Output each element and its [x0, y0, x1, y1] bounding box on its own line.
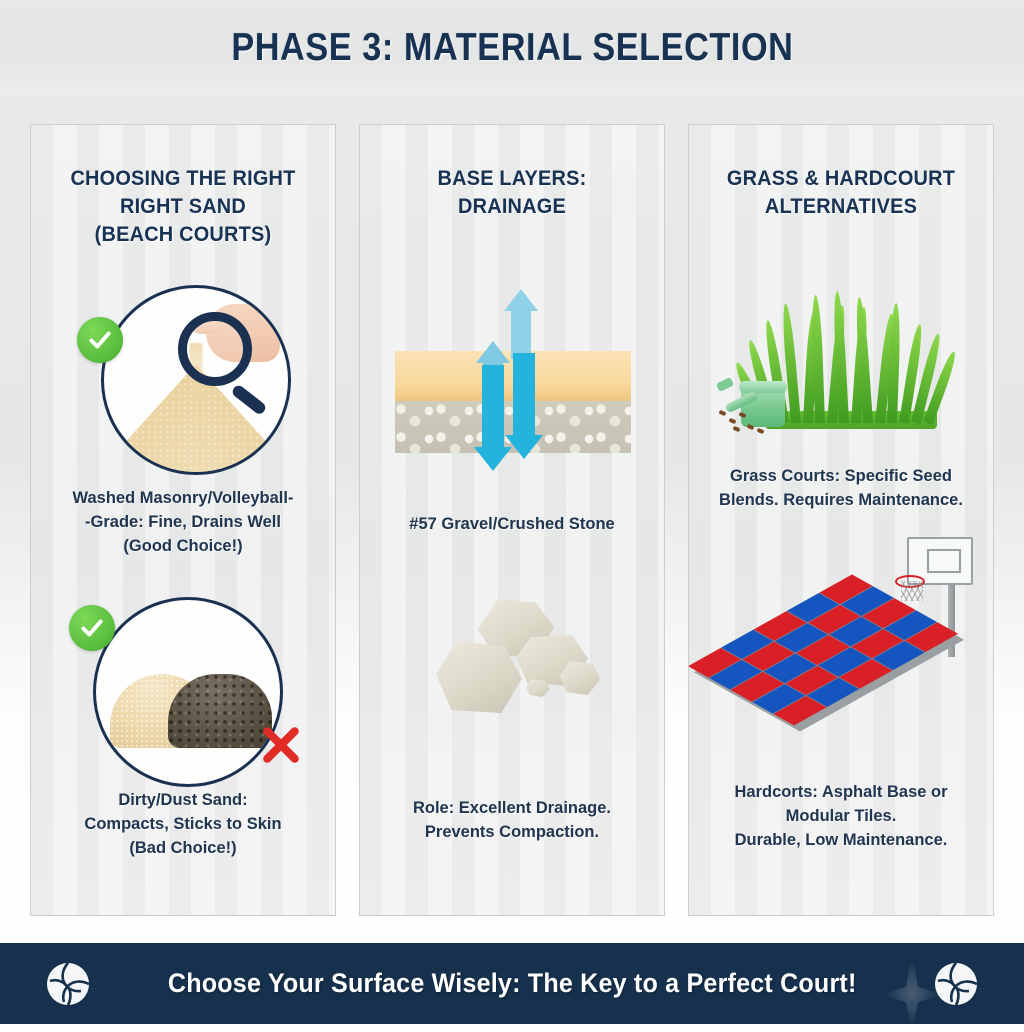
title-band: PHASE 3: MATERIAL SELECTION [0, 0, 1024, 96]
panel-base-layers: BASE LAYERS: DRAINAGE [359, 124, 665, 916]
caption-line: Modular Tiles. [689, 805, 993, 829]
infographic-root: PHASE 3: MATERIAL SELECTION CHOOSING THE… [0, 0, 1024, 1024]
caption-line: Hardcorts: Asphalt Base or [689, 781, 993, 805]
water-vapor-arrow-head [476, 341, 510, 363]
caption-good-sand: Washed Masonry/Volleyball- -Grade: Fine,… [31, 487, 335, 559]
magnifier-lens [178, 312, 252, 386]
panel-heading-line: CHOOSING THE RIGHT [39, 165, 328, 193]
figure-modular-court [689, 537, 993, 737]
footer-tagline: Choose Your Surface Wisely: The Key to a… [168, 968, 857, 999]
seed [718, 410, 726, 417]
figure-grass [689, 283, 993, 433]
caption-bad-sand: Dirty/Dust Sand: Compacts, Sticks to Ski… [31, 789, 335, 861]
sand-photo-circle [101, 285, 291, 475]
figure-sand-magnifier [31, 281, 335, 477]
crushed-stone-cluster [422, 595, 602, 715]
volleyball-icon [932, 960, 980, 1008]
dirty-sand-mound [168, 674, 272, 748]
water-infiltration-arrow-left [482, 365, 504, 449]
caption-line: (Bad Choice!) [31, 837, 335, 861]
volleyball-icon [44, 960, 92, 1008]
figure-drainage-cross-section [360, 303, 664, 478]
panel-heading: BASE LAYERS: DRAINAGE [368, 125, 657, 221]
water-evaporation-arrow-head [504, 289, 538, 311]
caption-hardcourts: Hardcorts: Asphalt Base or Modular Tiles… [689, 781, 993, 853]
panel-heading: GRASS & HARDCOURT ALTERNATIVES [697, 125, 986, 221]
panel-heading-line: BASE LAYERS: [368, 165, 657, 193]
figure-clean-vs-dirty-sand [31, 591, 335, 791]
seed [756, 428, 764, 435]
modular-tile-court [707, 537, 975, 737]
watering-can-top [739, 381, 787, 393]
caption-line: Durable, Low Maintenance. [689, 829, 993, 853]
caption-line: Blends. Requires Maintenance. [689, 489, 993, 513]
water-evaporation-arrow [511, 307, 531, 359]
caption-line: Dirty/Dust Sand: [31, 789, 335, 813]
panel-heading-line: (BEACH COURTS) [39, 221, 328, 249]
caption-line: Prevents Compaction. [360, 821, 664, 845]
grass-illustration [713, 283, 969, 433]
caption-line: Washed Masonry/Volleyball- [31, 487, 335, 511]
caption-line: Role: Excellent Drainage. [360, 797, 664, 821]
panel-choosing-sand: CHOOSING THE RIGHT RIGHT SAND (BEACH COU… [30, 124, 336, 916]
watering-can-icon [727, 375, 787, 427]
drainage-diagram [387, 303, 637, 478]
footer-banner: Choose Your Surface Wisely: The Key to a… [0, 943, 1024, 1024]
caption-drainage-role: Role: Excellent Drainage. Prevents Compa… [360, 797, 664, 845]
backboard-inner-square [927, 549, 961, 573]
water-infiltration-arrow-right-head [505, 435, 543, 459]
sand-comparison-circle [93, 597, 283, 787]
caption-line: #57 Gravel/Crushed Stone [360, 513, 664, 537]
watering-can-rose [716, 377, 734, 392]
figure-crushed-stones [360, 595, 664, 715]
caption-gravel-type: #57 Gravel/Crushed Stone [360, 513, 664, 537]
caption-grass-courts: Grass Courts: Specific Seed Blends. Requ… [689, 465, 993, 513]
magnifying-glass-icon [178, 302, 270, 394]
caption-line: Compacts, Sticks to Skin [31, 813, 335, 837]
panel-heading-line: GRASS & HARDCOURT [697, 165, 986, 193]
water-infiltration-arrow-right [513, 353, 535, 437]
panel-heading-line: ALTERNATIVES [697, 193, 986, 221]
page-title: PHASE 3: MATERIAL SELECTION [231, 26, 793, 70]
caption-line: Grass Courts: Specific Seed [689, 465, 993, 489]
columns-container: CHOOSING THE RIGHT RIGHT SAND (BEACH COU… [30, 124, 994, 916]
panel-heading: CHOOSING THE RIGHT RIGHT SAND (BEACH COU… [39, 125, 328, 249]
hoop-net [901, 581, 923, 601]
panel-heading-line: RIGHT SAND [39, 193, 328, 221]
caption-line: (Good Choice!) [31, 535, 335, 559]
check-icon [77, 317, 123, 363]
panel-heading-line: DRAINAGE [368, 193, 657, 221]
panel-grass-hardcourt: GRASS & HARDCOURT ALTERNATIVES [688, 124, 994, 916]
caption-line: -Grade: Fine, Drains Well [31, 511, 335, 535]
check-icon [69, 605, 115, 651]
cross-x-icon [259, 723, 303, 767]
